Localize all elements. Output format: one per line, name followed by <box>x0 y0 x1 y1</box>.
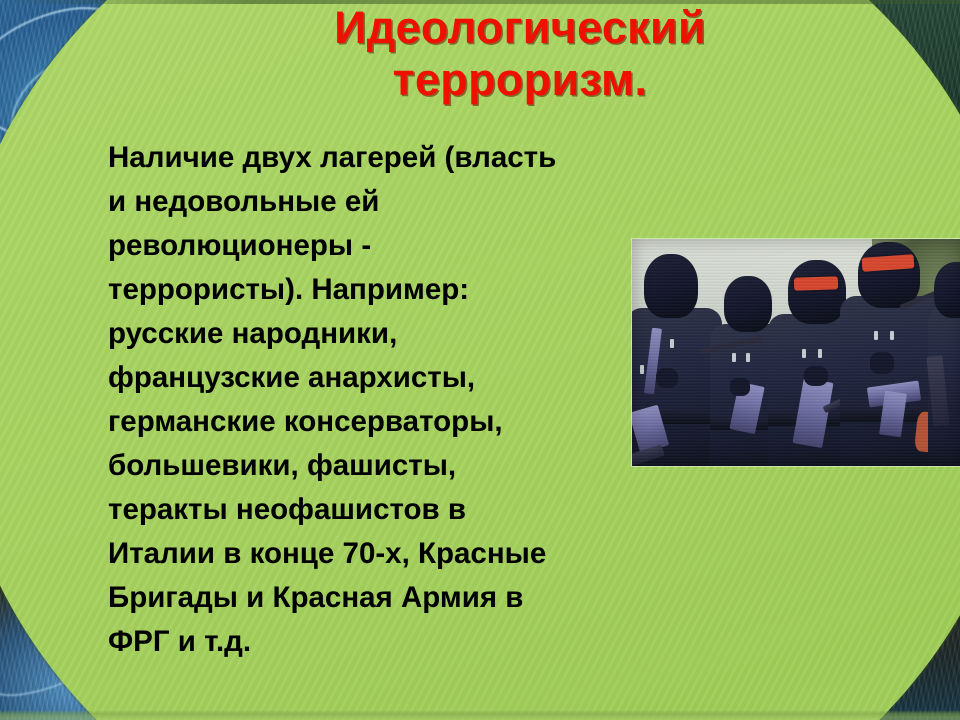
body-line: ФРГ и т.д. <box>108 620 668 664</box>
body-line: и недовольные ей <box>108 180 668 224</box>
body-line: большевики, фашисты, <box>108 444 668 488</box>
body-line: террористы). Например: <box>108 268 668 312</box>
body-line: Бригады и Красная Армия в <box>108 576 668 620</box>
body-line: французские анархисты, <box>108 356 668 400</box>
body-line: русские народники, <box>108 312 668 356</box>
body-line: революционеры - <box>108 224 668 268</box>
photo-vignette <box>632 239 960 466</box>
body-line: Наличие двух лагерей (власть <box>108 136 668 180</box>
slide-bottom-edge <box>0 710 960 720</box>
body-line: германские консерваторы, <box>108 400 668 444</box>
slide-title-line-1: Идеологический <box>334 2 706 53</box>
slide-title: Идеологический терроризм. <box>170 2 870 106</box>
body-line: теракты неофашистов в <box>108 488 668 532</box>
slide-body-text: Наличие двух лагерей (власть и недовольн… <box>108 136 668 664</box>
slide-title-line-2: терроризм. <box>170 54 870 106</box>
militants-photo <box>632 239 960 466</box>
presentation-slide: Идеологический терроризм. Наличие двух л… <box>0 0 960 720</box>
body-line: Италии в конце 70-х, Красные <box>108 532 668 576</box>
